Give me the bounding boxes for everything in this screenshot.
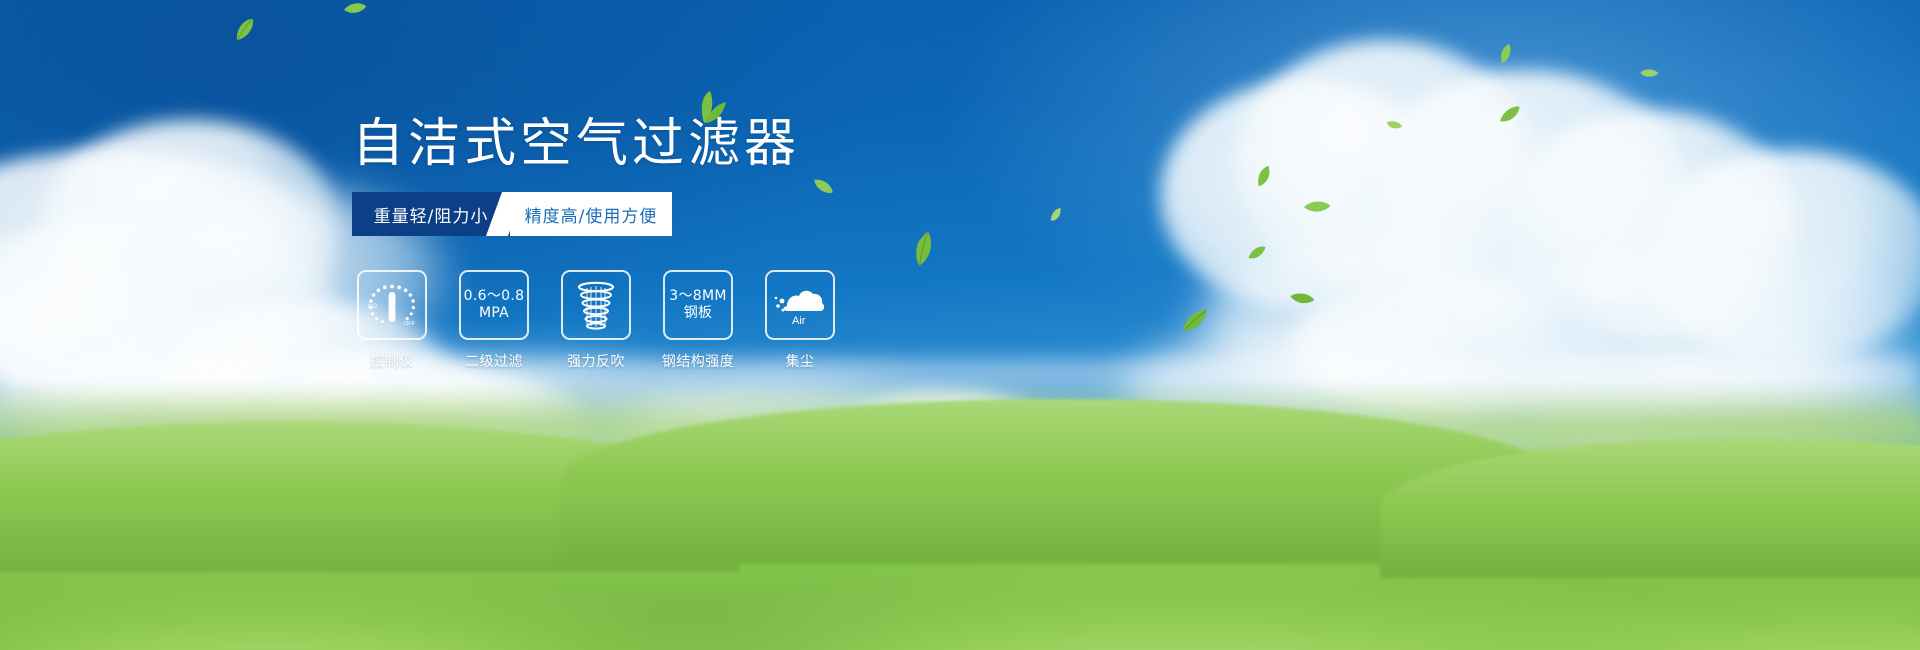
dust-cloud-icon: Air [774, 283, 826, 327]
feature-item-backblow[interactable]: 强力反吹 [561, 270, 631, 371]
feature-list: NO OFF 控制仪 0.6～0.8 MPA 二级过滤 [357, 270, 835, 371]
tab-weight-resistance[interactable]: 重量轻/阻力小 [352, 192, 510, 236]
gauge-off-label: OFF [404, 321, 416, 327]
gauge-on-label: NO [368, 304, 377, 310]
gauge-icon: NO OFF [365, 280, 419, 330]
tagline-tabs: 重量轻/阻力小 精度高/使用方便 [352, 192, 672, 236]
feature-item-steel-strength[interactable]: 3～8MM 钢板 钢结构强度 [663, 270, 733, 371]
feature-icon-box: 3～8MM 钢板 [663, 270, 733, 340]
hero-banner: 自洁式空气过滤器 重量轻/阻力小 精度高/使用方便 [0, 0, 1920, 650]
feature-label: 集尘 [786, 351, 815, 371]
feature-text-line2: MPA [479, 305, 509, 322]
feature-icon-box: 0.6～0.8 MPA [459, 270, 529, 340]
feature-label: 强力反吹 [567, 351, 625, 371]
page-title: 自洁式空气过滤器 [352, 118, 800, 170]
tab-label: 重量轻/阻力小 [374, 202, 489, 227]
feature-item-controller[interactable]: NO OFF 控制仪 [357, 270, 427, 371]
air-label: Air [792, 315, 806, 327]
feature-label: 钢结构强度 [662, 351, 735, 371]
tab-label: 精度高/使用方便 [525, 202, 658, 227]
tab-precision-ease[interactable]: 精度高/使用方便 [510, 192, 672, 236]
feature-icon-box [561, 270, 631, 340]
feature-icon-box: NO OFF [357, 270, 427, 340]
feature-item-dust-collection[interactable]: Air 集尘 [765, 270, 835, 371]
banner-content: 自洁式空气过滤器 重量轻/阻力小 精度高/使用方便 [0, 0, 1920, 650]
filter-coil-icon [574, 280, 618, 330]
feature-label: 二级过滤 [465, 351, 523, 371]
feature-text-line1: 3～8MM [669, 288, 726, 305]
feature-icon-box: Air [765, 270, 835, 340]
feature-label: 控制仪 [370, 351, 414, 371]
feature-text-line2: 钢板 [684, 305, 713, 322]
feature-text-line1: 0.6～0.8 [464, 288, 525, 305]
feature-item-two-stage-filter[interactable]: 0.6～0.8 MPA 二级过滤 [459, 270, 529, 371]
